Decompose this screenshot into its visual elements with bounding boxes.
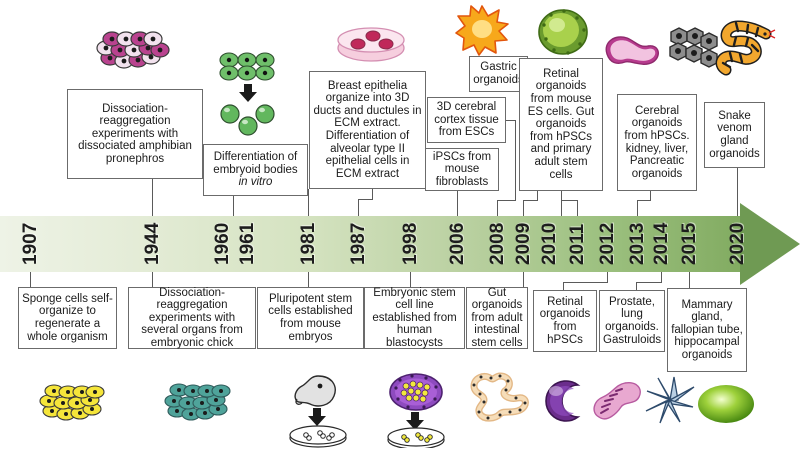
callout-text: Retinal organoids from mouse ES cells. G… xyxy=(523,68,599,181)
connector-2009-bottom xyxy=(523,272,524,287)
connector-2013-top xyxy=(650,191,651,200)
connector-1987-top xyxy=(372,189,373,199)
callout-box-2020-top[interactable]: Snake venom gland organoids xyxy=(704,102,765,168)
year-label-2009: 2009 xyxy=(513,216,535,272)
year-label-2013: 2013 xyxy=(627,216,649,272)
connector-2008-top-v2 xyxy=(497,200,498,216)
green-retinal-organoid-icon xyxy=(537,8,589,61)
connector-2008-top-v xyxy=(515,120,516,200)
pink-white-cell-cluster-icon xyxy=(94,28,172,75)
year-label-1998: 1998 xyxy=(400,216,422,272)
year-label-2012: 2012 xyxy=(597,216,619,272)
callout-box-1981-1987-top[interactable]: Breast epithelia organize into 3D ducts … xyxy=(309,71,426,189)
callout-text: Dissociation-reaggregation experiments w… xyxy=(132,287,252,350)
connector-2012-bottom-v xyxy=(607,272,608,282)
callout-text: iPSCs from mouse fibroblasts xyxy=(429,151,495,189)
callout-box-1998-bottom[interactable]: Embryonic stem cell line established fro… xyxy=(364,287,465,349)
connector-2009-top-h2 xyxy=(523,200,538,201)
connector-1981-top xyxy=(308,189,309,216)
timeline-figure: Dissociation-reaggregation experiments w… xyxy=(0,0,800,452)
connector-2006-top xyxy=(457,191,458,216)
callout-text: Dissociation-reaggregation experiments w… xyxy=(71,103,199,166)
callout-text-italic: in vitro xyxy=(239,176,273,188)
callout-text: Embryonic stem cell line established fro… xyxy=(368,287,461,350)
orange-starburst-gastric-organoid-icon xyxy=(455,4,509,61)
blue-star-mammary-icon xyxy=(644,375,696,430)
year-label-1961: 1961 xyxy=(237,216,259,272)
connector-1944-top xyxy=(152,179,153,216)
green-sphere-organoid-icon xyxy=(696,382,756,431)
callout-box-2006-top[interactable]: iPSCs from mouse fibroblasts xyxy=(425,148,499,191)
year-label-2008: 2008 xyxy=(487,216,509,272)
yellow-snake-icon xyxy=(714,18,778,83)
callout-text: Prostate, lung organoids. Gastruloids xyxy=(603,296,661,346)
pink-petri-dish-organoids-icon xyxy=(334,22,408,71)
connector-2011-top-v xyxy=(577,200,578,216)
year-label-1981: 1981 xyxy=(298,216,320,272)
grey-hexagonal-cell-cluster-icon xyxy=(665,26,721,77)
gut-organoid-icon xyxy=(470,372,530,429)
callout-text: 3D cerebral cortex tissue from ESCs xyxy=(431,101,502,139)
connector-2012-bottom-v2 xyxy=(563,282,564,290)
callout-text: Gut organoids from adult intestinal stem… xyxy=(470,287,524,350)
connector-2008-top-h2 xyxy=(497,200,516,201)
connector-2012-bottom-h xyxy=(563,282,608,283)
callout-text: Gastric organoids xyxy=(473,61,524,86)
timeline-axis: 1907 1944 1960 1961 1981 1987 1998 2006 … xyxy=(0,216,800,272)
callout-box-2014-bottom[interactable]: Prostate, lung organoids. Gastruloids xyxy=(599,290,665,352)
callout-box-2009-bottom[interactable]: Gut organoids from adult intestinal stem… xyxy=(466,287,528,349)
callout-text: Cerebral organoids from hPSCs. kidney, l… xyxy=(621,105,693,181)
callout-box-1907-bottom[interactable]: Sponge cells self-organize to regenerate… xyxy=(18,287,117,349)
year-label-2015: 2015 xyxy=(679,216,701,272)
connector-1907-bottom xyxy=(30,272,31,287)
callout-text: Sponge cells self-organize to regenerate… xyxy=(22,293,113,343)
callout-text: Retinal organoids from hPSCs xyxy=(537,296,593,346)
callout-box-2015-bottom[interactable]: Mammary gland, fallopian tube, hippocamp… xyxy=(667,288,747,372)
callout-text: Mammary gland, fallopian tube, hippocamp… xyxy=(671,299,743,362)
year-label-1960: 1960 xyxy=(212,216,234,272)
callout-box-2012-bottom[interactable]: Retinal organoids from hPSCs xyxy=(533,290,597,352)
year-label-1944: 1944 xyxy=(142,216,164,272)
callout-text: Breast epithelia organize into 3D ducts … xyxy=(313,80,422,181)
callout-box-2013-top[interactable]: Cerebral organoids from hPSCs. kidney, l… xyxy=(617,94,697,191)
connector-1981-bottom xyxy=(308,272,309,287)
mouse-embryo-to-dish-icon xyxy=(284,372,352,453)
callout-box-1944-top[interactable]: Dissociation-reaggregation experiments w… xyxy=(67,89,203,179)
connector-2015-bottom xyxy=(689,272,690,288)
teal-cell-cluster-icon xyxy=(163,378,235,429)
connector-2008-top-h xyxy=(506,120,515,121)
callout-box-1960-top[interactable]: Differentiation of embryoid bodies in vi… xyxy=(203,144,308,196)
year-label-2006: 2006 xyxy=(447,216,469,272)
year-label-1907: 1907 xyxy=(20,216,42,272)
connector-2014-bottom-v xyxy=(661,272,662,282)
timeline-arrowhead-icon xyxy=(740,203,800,285)
connector-2020-top xyxy=(737,168,738,216)
callout-text: Pluripotent stem cells established from … xyxy=(261,293,360,343)
connector-2009-top-v2 xyxy=(523,200,524,216)
callout-text: Differentiation of embryoid bodies in vi… xyxy=(207,151,304,189)
callout-box-2008-top[interactable]: 3D cerebral cortex tissue from ESCs xyxy=(427,97,506,143)
connector-2014-bottom-h xyxy=(636,282,662,283)
connector-2013-top-h xyxy=(637,200,651,201)
year-label-2020: 2020 xyxy=(727,216,749,272)
connector-2014-bottom-v2 xyxy=(636,282,637,290)
pink-lung-organoid-icon xyxy=(589,375,647,430)
callout-box-1944-bottom[interactable]: Dissociation-reaggregation experiments w… xyxy=(128,287,256,349)
callout-text: Snake venom gland organoids xyxy=(708,110,761,160)
connector-1944-bottom xyxy=(152,272,153,287)
pink-cerebral-organoid-icon xyxy=(601,30,663,75)
connector-2011-top-h xyxy=(561,200,578,201)
connector-1960-top xyxy=(233,196,234,216)
connector-1987-top-down xyxy=(358,199,359,216)
year-label-1987: 1987 xyxy=(348,216,370,272)
year-label-2010: 2010 xyxy=(539,216,561,272)
callout-box-2011-top[interactable]: Retinal organoids from mouse ES cells. G… xyxy=(519,58,603,191)
year-label-2014: 2014 xyxy=(651,216,673,272)
year-label-2011: 2011 xyxy=(567,216,589,272)
connector-1987-top-h xyxy=(358,199,373,200)
connector-2011-top xyxy=(561,191,562,216)
connector-1998-bottom xyxy=(410,272,411,287)
purple-retinal-cup-icon xyxy=(538,377,588,430)
connector-2013-top-v xyxy=(637,200,638,216)
human-blastocyst-to-dish-icon xyxy=(382,372,450,453)
callout-box-1981-bottom[interactable]: Pluripotent stem cells established from … xyxy=(257,287,364,349)
yellow-sponge-cells-icon xyxy=(38,381,110,430)
green-cell-sheet-to-spheres-icon xyxy=(215,48,281,145)
